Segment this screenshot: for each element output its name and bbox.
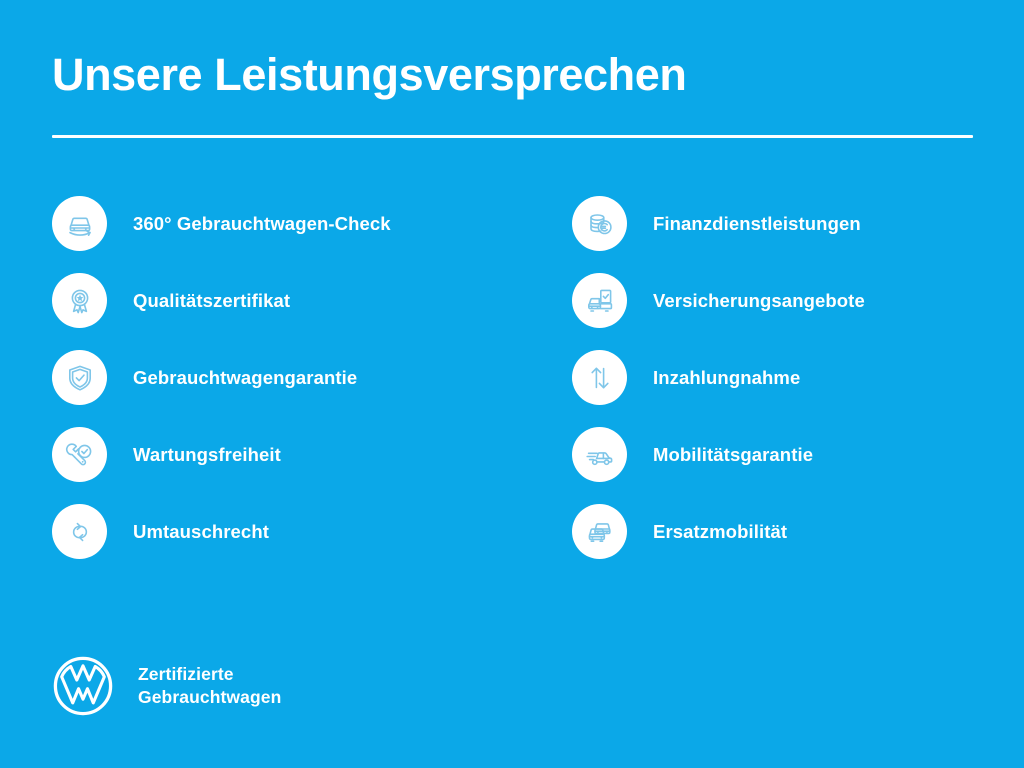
feature-label: Gebrauchtwagengarantie — [133, 367, 357, 389]
feature-item-gebrauchtwagengarantie[interactable]: Gebrauchtwagengarantie — [52, 350, 552, 405]
feature-item-ersatzmobilitaet[interactable]: Ersatzmobilität — [572, 504, 1002, 559]
title-divider — [52, 135, 973, 138]
feature-item-umtauschrecht[interactable]: Umtauschrecht — [52, 504, 552, 559]
feature-label: Ersatzmobilität — [653, 521, 787, 543]
feature-label: Versicherungsangebote — [653, 290, 865, 312]
award-rosette-icon — [52, 273, 107, 328]
feature-item-qualitaetszertifikat[interactable]: Qualitätszertifikat — [52, 273, 552, 328]
feature-item-mobilitaetsgarantie[interactable]: Mobilitätsgarantie — [572, 427, 1002, 482]
two-cars-icon — [572, 504, 627, 559]
brand-lockup: Zertifizierte Gebrauchtwagen — [52, 655, 281, 717]
feature-item-gebrauchtwagen-check[interactable]: 360° Gebrauchtwagen-Check — [52, 196, 552, 251]
exchange-arrows-icon — [52, 504, 107, 559]
feature-label: Mobilitätsgarantie — [653, 444, 813, 466]
volkswagen-logo — [52, 655, 114, 717]
feature-label: Finanzdienstleistungen — [653, 213, 861, 235]
wrench-check-icon — [52, 427, 107, 482]
feature-list: 360° Gebrauchtwagen-Check Qualitätszerti… — [0, 196, 1024, 559]
feature-label: Umtauschrecht — [133, 521, 269, 543]
up-down-arrows-icon — [572, 350, 627, 405]
brand-text-line-2: Gebrauchtwagen — [138, 686, 281, 709]
car-document-check-icon — [572, 273, 627, 328]
feature-item-finanzdienstleistungen[interactable]: Finanzdienstleistungen — [572, 196, 1002, 251]
brand-text: Zertifizierte Gebrauchtwagen — [138, 663, 281, 709]
car-check-icon — [52, 196, 107, 251]
slide-header: Unsere Leistungsversprechen — [52, 48, 974, 138]
car-speed-icon — [572, 427, 627, 482]
feature-column-left: 360° Gebrauchtwagen-Check Qualitätszerti… — [52, 196, 552, 559]
feature-label: Qualitätszertifikat — [133, 290, 290, 312]
feature-column-right: Finanzdienstleistungen — [572, 196, 1002, 559]
feature-label: 360° Gebrauchtwagen-Check — [133, 213, 391, 235]
coins-euro-icon — [572, 196, 627, 251]
feature-item-wartungsfreiheit[interactable]: Wartungsfreiheit — [52, 427, 552, 482]
slide-root: Unsere Leistungsversprechen — [0, 0, 1024, 768]
feature-item-versicherungsangebote[interactable]: Versicherungsangebote — [572, 273, 1002, 328]
shield-check-icon — [52, 350, 107, 405]
feature-label: Wartungsfreiheit — [133, 444, 281, 466]
feature-item-inzahlungnahme[interactable]: Inzahlungnahme — [572, 350, 1002, 405]
page-title: Unsere Leistungsversprechen — [52, 48, 974, 102]
brand-text-line-1: Zertifizierte — [138, 663, 281, 686]
feature-label: Inzahlungnahme — [653, 367, 800, 389]
